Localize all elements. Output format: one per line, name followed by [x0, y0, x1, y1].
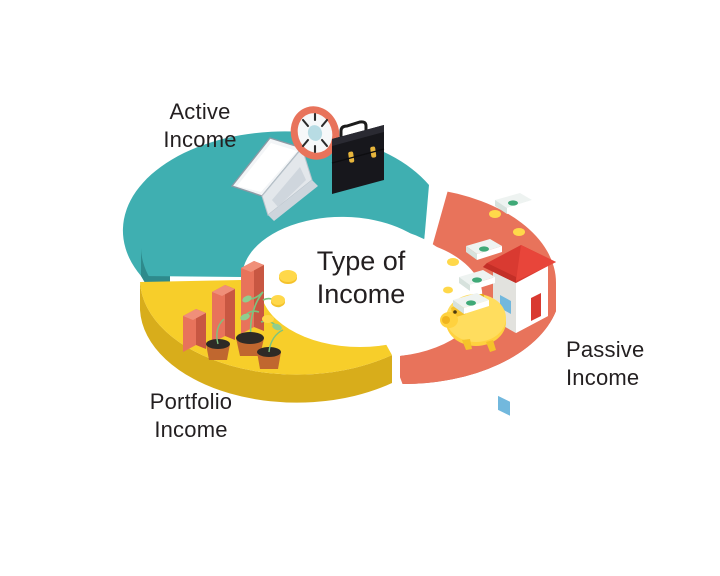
slice-label-active-income: Active Income	[120, 98, 280, 153]
chart-center-title: Type of Income	[273, 245, 449, 311]
slice-label-passive-income: Passive Income	[566, 336, 716, 391]
slice-label-portfolio-income: Portfolio Income	[96, 388, 286, 443]
infographic-canvas: Type of Income Active Income Portfolio I…	[0, 0, 720, 576]
